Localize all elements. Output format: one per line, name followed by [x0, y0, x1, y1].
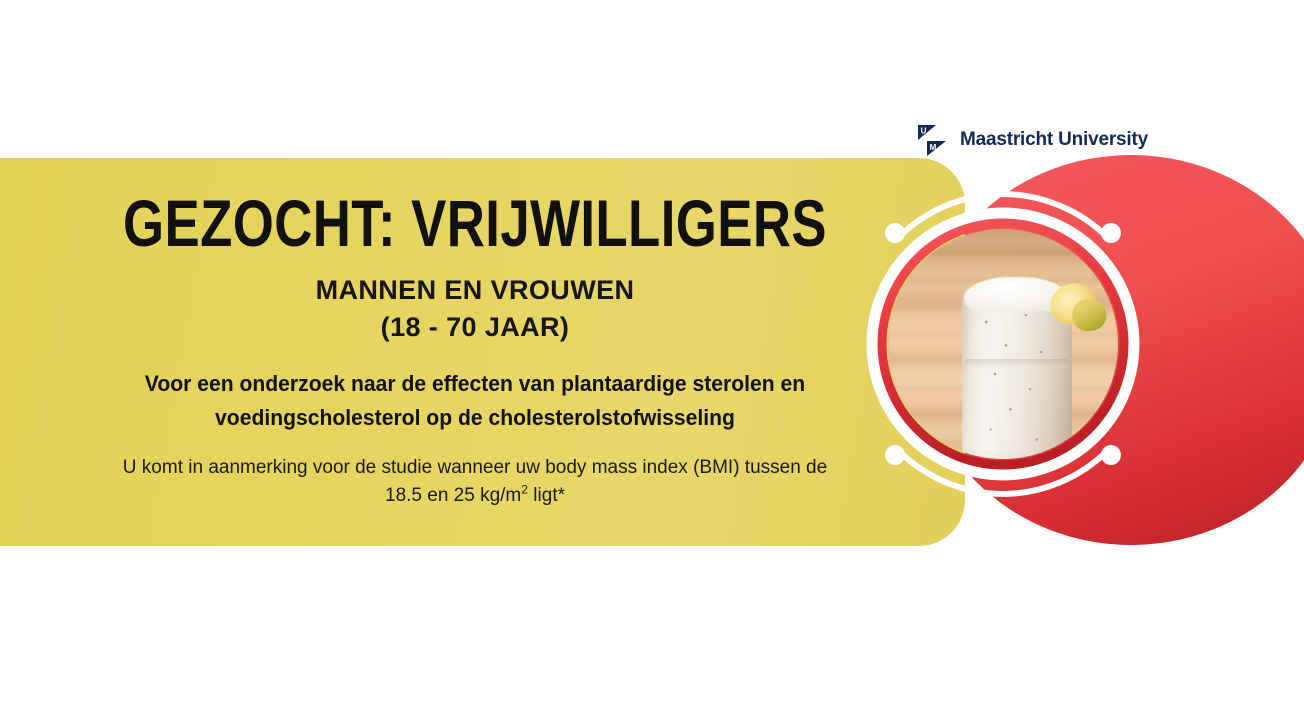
maastricht-university-logo: U M Maastricht University — [916, 123, 1148, 157]
subheading-line-2: (18 - 70 JAAR) — [0, 309, 950, 346]
page-title: GEZOCHT: VRIJWILLIGERS — [95, 190, 855, 256]
eligibility-note: U komt in aanmerking voor de studie wann… — [0, 454, 950, 509]
study-description: Voor een onderzoek naar de effecten van … — [19, 367, 931, 434]
subheading-line-1: MANNEN EN VROUWEN — [316, 275, 635, 305]
arc-dot-top-right — [1101, 223, 1121, 243]
eligibility-note-line-2: 18.5 en 25 kg/m2 ligt* — [110, 482, 840, 510]
um-triangle-mark: U M — [916, 123, 950, 157]
study-description-line-1: Voor een onderzoek naar de effecten van … — [145, 371, 805, 396]
subheading: MANNEN EN VROUWEN (18 - 70 JAAR) — [0, 272, 950, 345]
um-wordmark: Maastricht University — [960, 129, 1148, 151]
bmi-range-text: 18.5 en 25 kg/m — [385, 485, 521, 506]
poster-canvas: U M Maastricht University GEZOCHT: VRIJW… — [0, 0, 1304, 728]
eligibility-note-line-1: U komt in aanmerking voor de studie wann… — [123, 457, 827, 478]
um-mark-letter-m: M — [930, 143, 937, 152]
poster-text-block: GEZOCHT: VRIJWILLIGERS MANNEN EN VROUWEN… — [0, 190, 950, 509]
eligibility-note-suffix: ligt* — [528, 485, 565, 506]
study-description-line-2: voedingscholesterol op de cholesterolsto… — [86, 401, 864, 434]
um-mark-letter-u: U — [921, 127, 927, 136]
arc-dot-bottom-right — [1101, 445, 1121, 465]
